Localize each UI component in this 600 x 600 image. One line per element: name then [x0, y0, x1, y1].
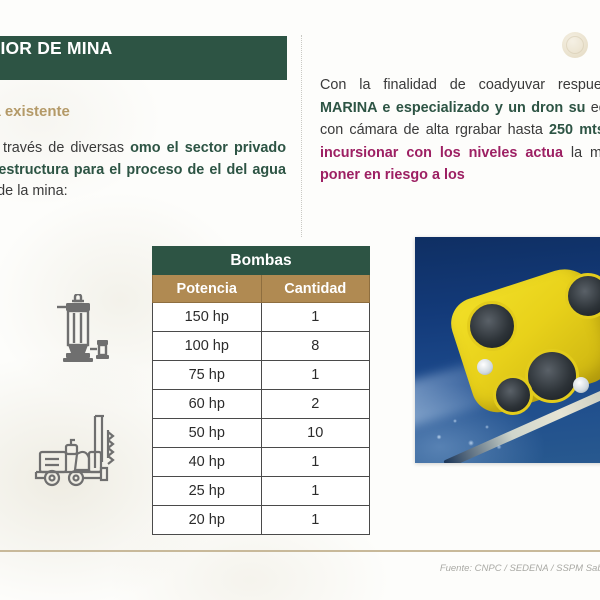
cell-cantidad: 1 [261, 361, 370, 390]
cell-potencia: 25 hp [153, 477, 262, 506]
page-title-line-2: ILA [0, 58, 287, 77]
right-body-paragraph: Con la finalidad de coadyuvar respuesta,… [320, 74, 600, 187]
cell-cantidad: 1 [261, 477, 370, 506]
table-row: 75 hp 1 [153, 361, 370, 390]
underwater-rov-drone-photo [415, 237, 600, 463]
table-row: 25 hp 1 [153, 477, 370, 506]
slide-canvas: NTERIOR DE MINA ILA tructura existente M… [0, 0, 600, 600]
right-para-seg-6: grabar hasta [460, 122, 549, 138]
cell-cantidad: 1 [261, 303, 370, 332]
cell-cantidad: 8 [261, 332, 370, 361]
cell-potencia: 60 hp [153, 390, 262, 419]
table-title-row: Bombas [153, 247, 370, 275]
table-title-cell: Bombas [153, 247, 370, 275]
left-para-seg-4: aestructura para el proceso de [0, 162, 209, 178]
left-para-seg-1: a través de diversas [0, 140, 130, 156]
right-para-seg-4: especializado y un dron su [396, 100, 586, 116]
photo-lamp [573, 377, 589, 393]
government-seal-watermark-icon [562, 32, 588, 58]
cell-potencia: 75 hp [153, 361, 262, 390]
photo-bubbles [429, 407, 509, 453]
column-divider [301, 35, 302, 237]
right-para-seg-1: Con la finalidad de coadyuvar [320, 77, 558, 93]
cell-potencia: 40 hp [153, 448, 262, 477]
table-row: 20 hp 1 [153, 506, 370, 535]
cell-potencia: 50 hp [153, 419, 262, 448]
column-header-cantidad: Cantidad [261, 275, 370, 303]
cell-cantidad: 10 [261, 419, 370, 448]
pumps-table: Bombas Potencia Cantidad 150 hp 1 100 hp… [152, 246, 370, 535]
table-row: 100 hp 8 [153, 332, 370, 361]
left-para-seg-5: el del agua [209, 162, 286, 178]
cell-potencia: 20 hp [153, 506, 262, 535]
right-para-seg-10: la mina [571, 145, 600, 161]
right-para-seg-7: 250 mts. [549, 122, 600, 138]
table-row: 40 hp 1 [153, 448, 370, 477]
right-para-seg-9: incursionar con los niveles actua [320, 145, 563, 161]
page-title-line-1: NTERIOR DE MINA [0, 39, 287, 58]
left-para-seg-6: al interior de la mina: [0, 183, 68, 199]
cell-potencia: 150 hp [153, 303, 262, 332]
cell-cantidad: 1 [261, 506, 370, 535]
cell-cantidad: 1 [261, 448, 370, 477]
cell-cantidad: 2 [261, 390, 370, 419]
table-row: 60 hp 2 [153, 390, 370, 419]
table-row: 150 hp 1 [153, 303, 370, 332]
drilling-rig-truck-icon [32, 412, 128, 495]
left-body-paragraph: México a través de diversas omo el secto… [0, 138, 286, 203]
slide-title-banner: NTERIOR DE MINA ILA [0, 36, 287, 80]
table-row: 50 hp 10 [153, 419, 370, 448]
footer-source-text: Fuente: CNPC / SEDENA / SSPM Sabin [300, 563, 600, 574]
left-para-seg-2: omo el sector privado [130, 140, 286, 156]
column-header-potencia: Potencia [153, 275, 262, 303]
photo-thruster [525, 349, 579, 403]
photo-lamp [477, 359, 493, 375]
cell-potencia: 100 hp [153, 332, 262, 361]
photo-thruster [467, 301, 517, 351]
submersible-pump-icon [55, 294, 113, 379]
footer-divider [0, 550, 600, 552]
right-para-seg-2: respuesta, [558, 77, 600, 93]
table-header-row: Potencia Cantidad [153, 275, 370, 303]
slide-subtitle: tructura existente [0, 103, 284, 120]
